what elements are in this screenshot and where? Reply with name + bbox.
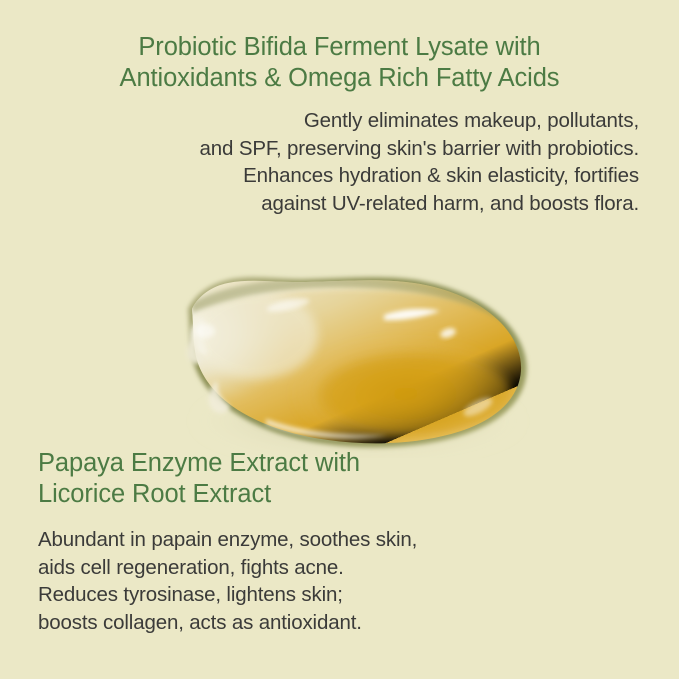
product-infographic: Probiotic Bifida Ferment Lysate with Ant… (0, 0, 679, 679)
body-line: Enhances hydration & skin elasticity, fo… (22, 162, 639, 190)
bottom-ingredient-section: Papaya Enzyme Extract with Licorice Root… (38, 448, 638, 636)
cleansing-balm-swatch-image (148, 243, 548, 458)
heading-line: Antioxidants & Omega Rich Fatty Acids (22, 63, 657, 94)
heading-line: Licorice Root Extract (38, 479, 638, 510)
body-line: boosts collagen, acts as antioxidant. (38, 609, 638, 637)
body-line: against UV-related harm, and boosts flor… (22, 190, 639, 218)
heading-line: Probiotic Bifida Ferment Lysate with (22, 32, 657, 63)
top-ingredient-section: Probiotic Bifida Ferment Lysate with Ant… (0, 32, 679, 217)
bottom-section-heading: Papaya Enzyme Extract with Licorice Root… (38, 448, 638, 510)
bottom-section-body: Abundant in papain enzyme, soothes skin,… (38, 526, 638, 636)
heading-line: Papaya Enzyme Extract with (38, 448, 638, 479)
top-section-body: Gently eliminates makeup, pollutants, an… (22, 107, 639, 217)
body-line: Gently eliminates makeup, pollutants, (22, 107, 639, 135)
body-line: aids cell regeneration, fights acne. (38, 554, 638, 582)
top-section-heading: Probiotic Bifida Ferment Lysate with Ant… (22, 32, 657, 94)
body-line: Abundant in papain enzyme, soothes skin, (38, 526, 638, 554)
body-line: Reduces tyrosinase, lightens skin; (38, 581, 638, 609)
body-line: and SPF, preserving skin's barrier with … (22, 135, 639, 163)
